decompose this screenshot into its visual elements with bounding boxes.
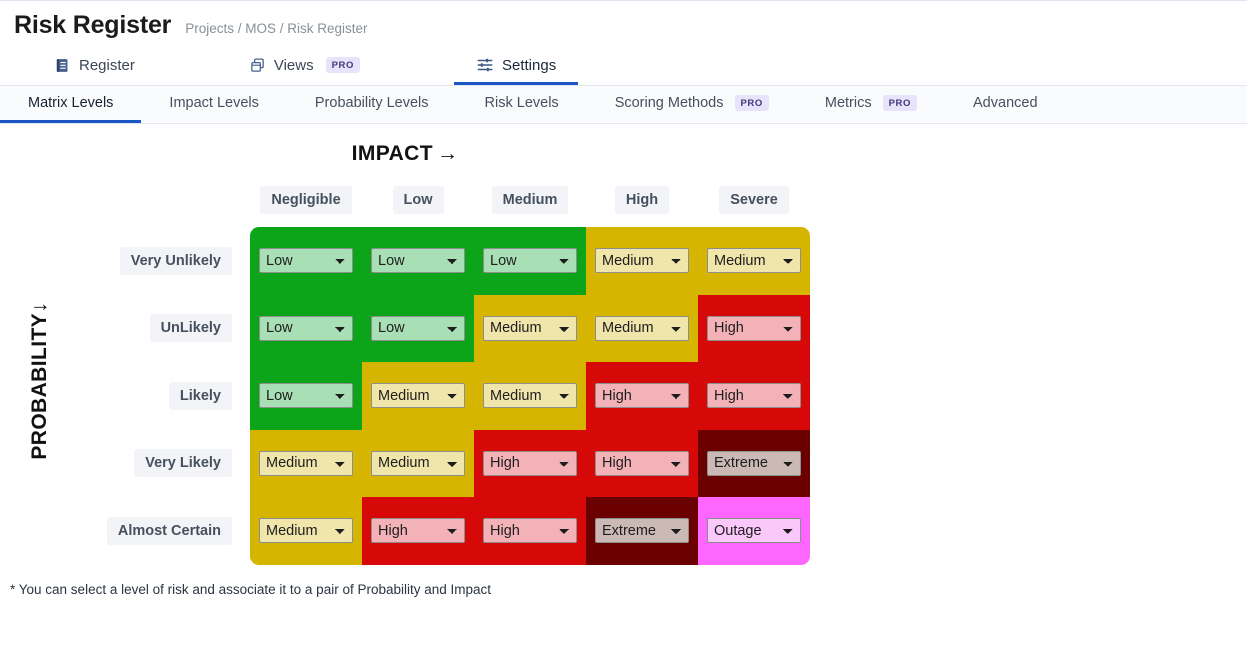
impact-level-chip: Low: [393, 186, 444, 214]
subtab-scoring-methods[interactable]: Scoring Methods PRO: [587, 86, 797, 123]
risk-level-select[interactable]: LowMediumHighExtremeOutage: [259, 248, 353, 273]
matrix-cell: LowMediumHighExtremeOutage: [474, 362, 586, 430]
risk-level-select[interactable]: LowMediumHighExtremeOutage: [707, 518, 801, 543]
matrix-cell: LowMediumHighExtremeOutage: [474, 295, 586, 363]
subtab-risk-levels[interactable]: Risk Levels: [457, 86, 587, 123]
matrix-cell: LowMediumHighExtremeOutage: [474, 430, 586, 498]
matrix-cell: LowMediumHighExtremeOutage: [586, 295, 698, 363]
impact-axis-label: IMPACT: [352, 142, 433, 165]
probability-axis-title: PROBABILITY↓: [28, 302, 52, 460]
subtab-probability-levels-label: Probability Levels: [315, 95, 429, 111]
subtab-metrics-label: Metrics: [825, 95, 872, 111]
pro-badge: PRO: [735, 95, 769, 111]
subtab-risk-levels-label: Risk Levels: [485, 95, 559, 111]
matrix-cell: LowMediumHighExtremeOutage: [586, 430, 698, 498]
matrix-cell: LowMediumHighExtremeOutage: [362, 497, 474, 565]
primary-tab-bar: Register Views PRO Settings: [0, 48, 1247, 86]
matrix-cell: LowMediumHighExtremeOutage: [698, 430, 810, 498]
matrix-cell: LowMediumHighExtremeOutage: [250, 362, 362, 430]
footnote: * You can select a level of risk and ass…: [10, 582, 1247, 597]
risk-level-select[interactable]: LowMediumHighExtremeOutage: [371, 383, 465, 408]
risk-level-select[interactable]: LowMediumHighExtremeOutage: [483, 316, 577, 341]
risk-matrix-section: IMPACT→ PROBABILITY↓ NegligibleLowMedium…: [0, 124, 1247, 597]
matrix-cell: LowMediumHighExtremeOutage: [474, 227, 586, 295]
risk-level-select[interactable]: LowMediumHighExtremeOutage: [483, 383, 577, 408]
impact-level-chip: Negligible: [260, 186, 351, 214]
risk-level-select[interactable]: LowMediumHighExtremeOutage: [483, 248, 577, 273]
risk-level-select[interactable]: LowMediumHighExtremeOutage: [259, 518, 353, 543]
probability-level-chip: UnLikely: [150, 314, 232, 342]
risk-level-select[interactable]: LowMediumHighExtremeOutage: [595, 248, 689, 273]
impact-level-chip: Severe: [719, 186, 789, 214]
book-icon: [54, 57, 71, 74]
risk-level-select[interactable]: LowMediumHighExtremeOutage: [595, 518, 689, 543]
risk-matrix-grid: LowMediumHighExtremeOutageLowMediumHighE…: [250, 227, 810, 565]
matrix-cell: LowMediumHighExtremeOutage: [250, 497, 362, 565]
title-row: Risk Register Projects / MOS / Risk Regi…: [14, 11, 1247, 40]
probability-axis-label: PROBABILITY: [28, 313, 52, 460]
matrix-cell: LowMediumHighExtremeOutage: [250, 295, 362, 363]
matrix-cell: LowMediumHighExtremeOutage: [362, 227, 474, 295]
subtab-metrics[interactable]: Metrics PRO: [797, 86, 945, 123]
sliders-icon: [476, 56, 494, 74]
matrix-cell: LowMediumHighExtremeOutage: [698, 295, 810, 363]
risk-level-select[interactable]: LowMediumHighExtremeOutage: [707, 383, 801, 408]
risk-level-select[interactable]: LowMediumHighExtremeOutage: [707, 316, 801, 341]
matrix-cell: LowMediumHighExtremeOutage: [362, 362, 474, 430]
arrow-right-icon: →: [437, 142, 458, 165]
risk-level-select[interactable]: LowMediumHighExtremeOutage: [371, 316, 465, 341]
impact-header-cell: Medium: [474, 186, 586, 214]
subtab-matrix-levels-label: Matrix Levels: [28, 95, 113, 111]
probability-level-chip: Very Unlikely: [120, 247, 232, 275]
subtab-impact-levels[interactable]: Impact Levels: [141, 86, 286, 123]
subtab-advanced[interactable]: Advanced: [945, 86, 1066, 123]
risk-level-select[interactable]: LowMediumHighExtremeOutage: [483, 451, 577, 476]
matrix-body: Very UnlikelyUnLikelyLikelyVery LikelyAl…: [0, 227, 1247, 565]
risk-level-select[interactable]: LowMediumHighExtremeOutage: [259, 383, 353, 408]
risk-level-select[interactable]: LowMediumHighExtremeOutage: [483, 518, 577, 543]
risk-level-select[interactable]: LowMediumHighExtremeOutage: [707, 248, 801, 273]
matrix-cell: LowMediumHighExtremeOutage: [586, 362, 698, 430]
tab-settings[interactable]: Settings: [454, 48, 578, 85]
tab-register-label: Register: [79, 57, 135, 74]
matrix-cell: LowMediumHighExtremeOutage: [698, 362, 810, 430]
impact-axis-title: IMPACT→: [0, 142, 810, 166]
tab-register[interactable]: Register: [32, 48, 157, 85]
tab-settings-label: Settings: [502, 57, 556, 74]
risk-level-select[interactable]: LowMediumHighExtremeOutage: [595, 451, 689, 476]
matrix-cell: LowMediumHighExtremeOutage: [586, 497, 698, 565]
subtab-advanced-label: Advanced: [973, 95, 1038, 111]
matrix-cell: LowMediumHighExtremeOutage: [362, 430, 474, 498]
matrix-cell: LowMediumHighExtremeOutage: [250, 227, 362, 295]
probability-header-cell: Very Unlikely: [0, 227, 250, 295]
matrix-cell: LowMediumHighExtremeOutage: [698, 227, 810, 295]
matrix-cell: LowMediumHighExtremeOutage: [362, 295, 474, 363]
risk-level-select[interactable]: LowMediumHighExtremeOutage: [707, 451, 801, 476]
subtab-impact-levels-label: Impact Levels: [169, 95, 258, 111]
probability-level-chip: Likely: [169, 382, 232, 410]
risk-level-select[interactable]: LowMediumHighExtremeOutage: [259, 451, 353, 476]
probability-level-chip: Very Likely: [134, 449, 232, 477]
impact-header-cell: High: [586, 186, 698, 214]
subtab-scoring-methods-label: Scoring Methods: [615, 95, 724, 111]
probability-header-cell: Almost Certain: [0, 497, 250, 565]
breadcrumb: Projects / MOS / Risk Register: [185, 21, 367, 36]
impact-level-chip: High: [615, 186, 669, 214]
matrix-cell: LowMediumHighExtremeOutage: [474, 497, 586, 565]
probability-level-chip: Almost Certain: [107, 517, 232, 545]
risk-level-select[interactable]: LowMediumHighExtremeOutage: [595, 383, 689, 408]
risk-level-select[interactable]: LowMediumHighExtremeOutage: [595, 316, 689, 341]
arrow-down-icon: ↓: [28, 302, 52, 313]
impact-column-headers: NegligibleLowMediumHighSevere: [250, 186, 810, 214]
matrix-cell: LowMediumHighExtremeOutage: [586, 227, 698, 295]
impact-header-cell: Severe: [698, 186, 810, 214]
risk-level-select[interactable]: LowMediumHighExtremeOutage: [371, 248, 465, 273]
page-title: Risk Register: [14, 11, 171, 40]
tab-views[interactable]: Views PRO: [227, 48, 382, 85]
impact-level-chip: Medium: [492, 186, 569, 214]
risk-level-select[interactable]: LowMediumHighExtremeOutage: [371, 518, 465, 543]
risk-level-select[interactable]: LowMediumHighExtremeOutage: [259, 316, 353, 341]
subtab-matrix-levels[interactable]: Matrix Levels: [0, 86, 141, 123]
subtab-probability-levels[interactable]: Probability Levels: [287, 86, 457, 123]
app-header: Risk Register Projects / MOS / Risk Regi…: [0, 0, 1247, 40]
impact-header-cell: Negligible: [250, 186, 362, 214]
matrix-cell: LowMediumHighExtremeOutage: [250, 430, 362, 498]
windows-stack-icon: [249, 57, 266, 74]
matrix-cell: LowMediumHighExtremeOutage: [698, 497, 810, 565]
impact-header-cell: Low: [362, 186, 474, 214]
pro-badge: PRO: [883, 95, 917, 111]
pro-badge: PRO: [326, 57, 360, 73]
tab-views-label: Views: [274, 57, 314, 74]
risk-level-select[interactable]: LowMediumHighExtremeOutage: [371, 451, 465, 476]
sub-tab-bar: Matrix Levels Impact Levels Probability …: [0, 86, 1247, 124]
